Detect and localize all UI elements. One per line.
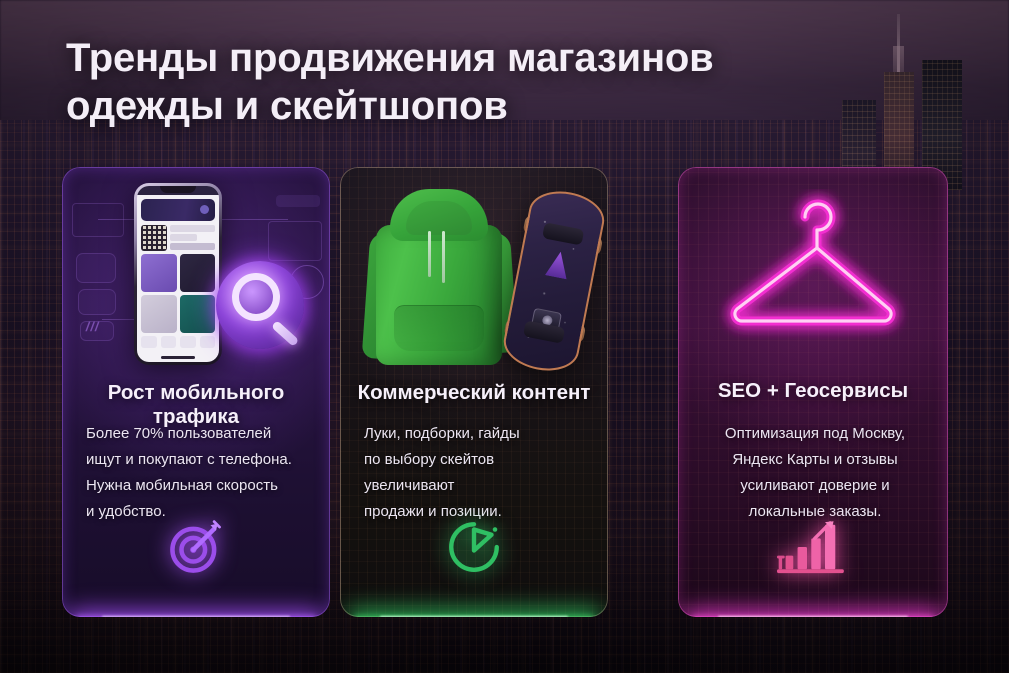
card-body: Более 70% пользователей ищут и покупают … <box>86 421 310 525</box>
text-line <box>170 243 215 250</box>
pie-clock-icon <box>340 515 608 579</box>
card-seo-geo[interactable]: SEO + Геосервисы Оптимизация под Москву,… <box>678 167 948 617</box>
hoodie-drawstring <box>442 231 445 283</box>
smartphone-mockup <box>134 183 222 365</box>
illustration-hoodie-and-skateboard <box>340 167 608 379</box>
hoodie-hood-inner <box>406 201 472 235</box>
card-glow-line <box>718 616 908 617</box>
card-heading: SEO + Геосервисы <box>678 379 948 403</box>
hud-line <box>102 319 138 320</box>
green-hoodie <box>366 189 512 365</box>
card-body: Луки, подборки, гайды по выбору скейтов … <box>364 421 588 525</box>
hud-panel <box>76 253 116 283</box>
hoodie-pocket <box>394 305 484 351</box>
watermark: /// <box>85 319 101 334</box>
phone-home-indicator <box>161 356 195 359</box>
cards-row: /// Рост мобильного трафика Более 70% по… <box>0 0 1009 673</box>
infographic-slide: Тренды продвижения магазинов одежды и ск… <box>0 0 1009 673</box>
card-mobile-traffic[interactable]: /// Рост мобильного трафика Более 70% по… <box>62 167 330 617</box>
hud-panel <box>276 195 320 207</box>
app-tiles-row <box>141 295 215 333</box>
card-heading: Коммерческий контент <box>340 381 608 405</box>
app-tile <box>141 295 177 333</box>
app-tiles-row <box>141 254 215 292</box>
magnifier-lens <box>232 273 280 321</box>
hud-panel <box>78 289 116 315</box>
text-line <box>170 234 197 241</box>
card-glow-line <box>380 616 568 617</box>
skateboard <box>500 185 608 376</box>
tab-icon <box>180 336 196 348</box>
app-hero-banner <box>141 199 215 221</box>
illustration-neon-hanger <box>678 167 948 379</box>
skateboard-deck <box>500 185 608 376</box>
neon-hanger-icon <box>713 189 913 359</box>
qr-code-icon <box>141 225 167 251</box>
tab-icon <box>161 336 177 348</box>
illustration-smartphone-with-magnifier: /// <box>62 167 330 379</box>
avatar <box>200 205 209 214</box>
phone-screen <box>137 186 219 362</box>
deck-graphic <box>545 250 572 280</box>
hud-panel <box>72 203 124 237</box>
text-line <box>170 225 215 232</box>
phone-notch <box>160 186 196 193</box>
tab-icon <box>141 336 157 348</box>
app-text-lines <box>170 225 215 251</box>
bar-chart-growth-icon <box>678 515 948 579</box>
card-glow-line <box>102 616 290 617</box>
hoodie-drawstring <box>428 231 431 277</box>
magnifier-icon <box>212 257 308 353</box>
card-commercial-content[interactable]: Коммерческий контент Луки, подборки, гай… <box>340 167 608 617</box>
card-body: Оптимизация под Москву, Яндекс Карты и о… <box>700 421 930 525</box>
app-tab-bar <box>141 336 215 348</box>
target-arrow-icon <box>62 515 330 579</box>
app-tile <box>141 254 177 292</box>
app-row <box>141 225 215 251</box>
